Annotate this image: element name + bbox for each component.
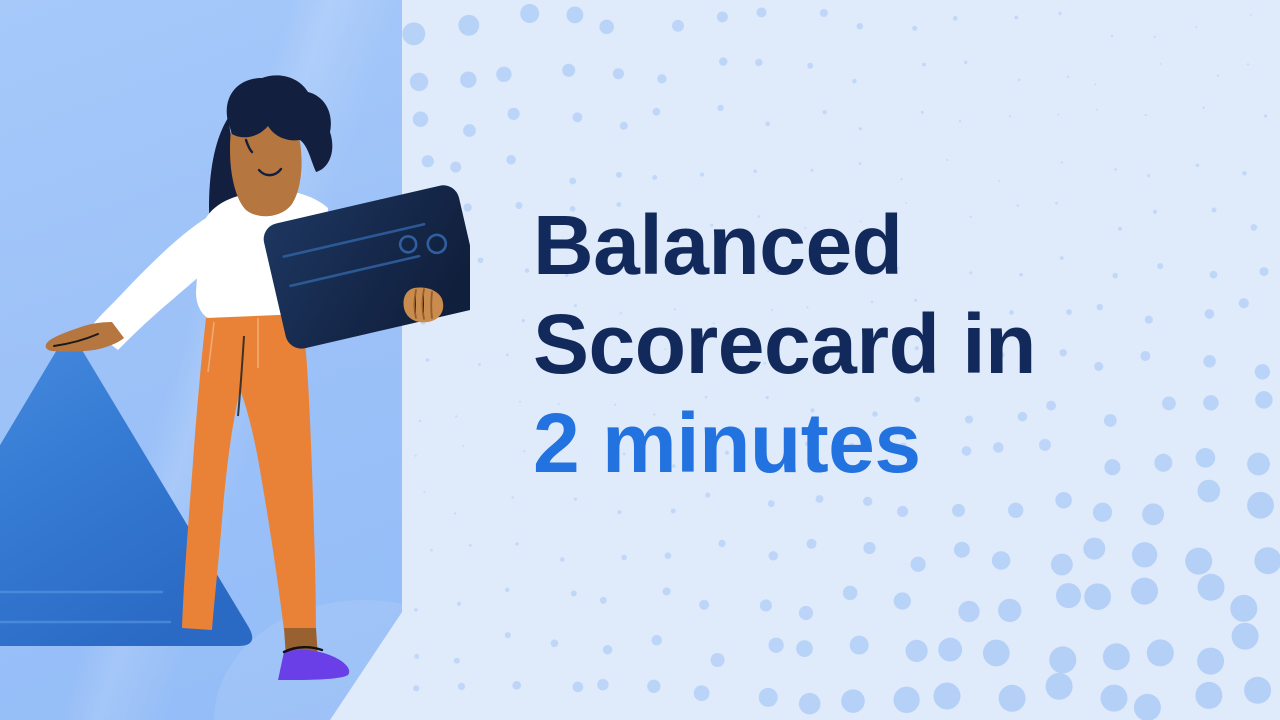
slide-canvas: Balanced Scorecard in 2 minutes <box>0 0 1280 720</box>
character-illustration <box>0 0 470 720</box>
left-hand <box>46 322 124 352</box>
headline-accent-number: 2 <box>533 396 579 490</box>
page-title: Balanced Scorecard in 2 minutes <box>533 196 1213 493</box>
headline-accent-word: minutes <box>579 396 920 490</box>
pants <box>182 314 316 630</box>
headline-line-2: Scorecard in <box>533 295 1213 394</box>
shoe <box>278 650 349 680</box>
headline-line-3: 2 minutes <box>533 394 1213 493</box>
headline-line-1: Balanced <box>533 196 1213 295</box>
